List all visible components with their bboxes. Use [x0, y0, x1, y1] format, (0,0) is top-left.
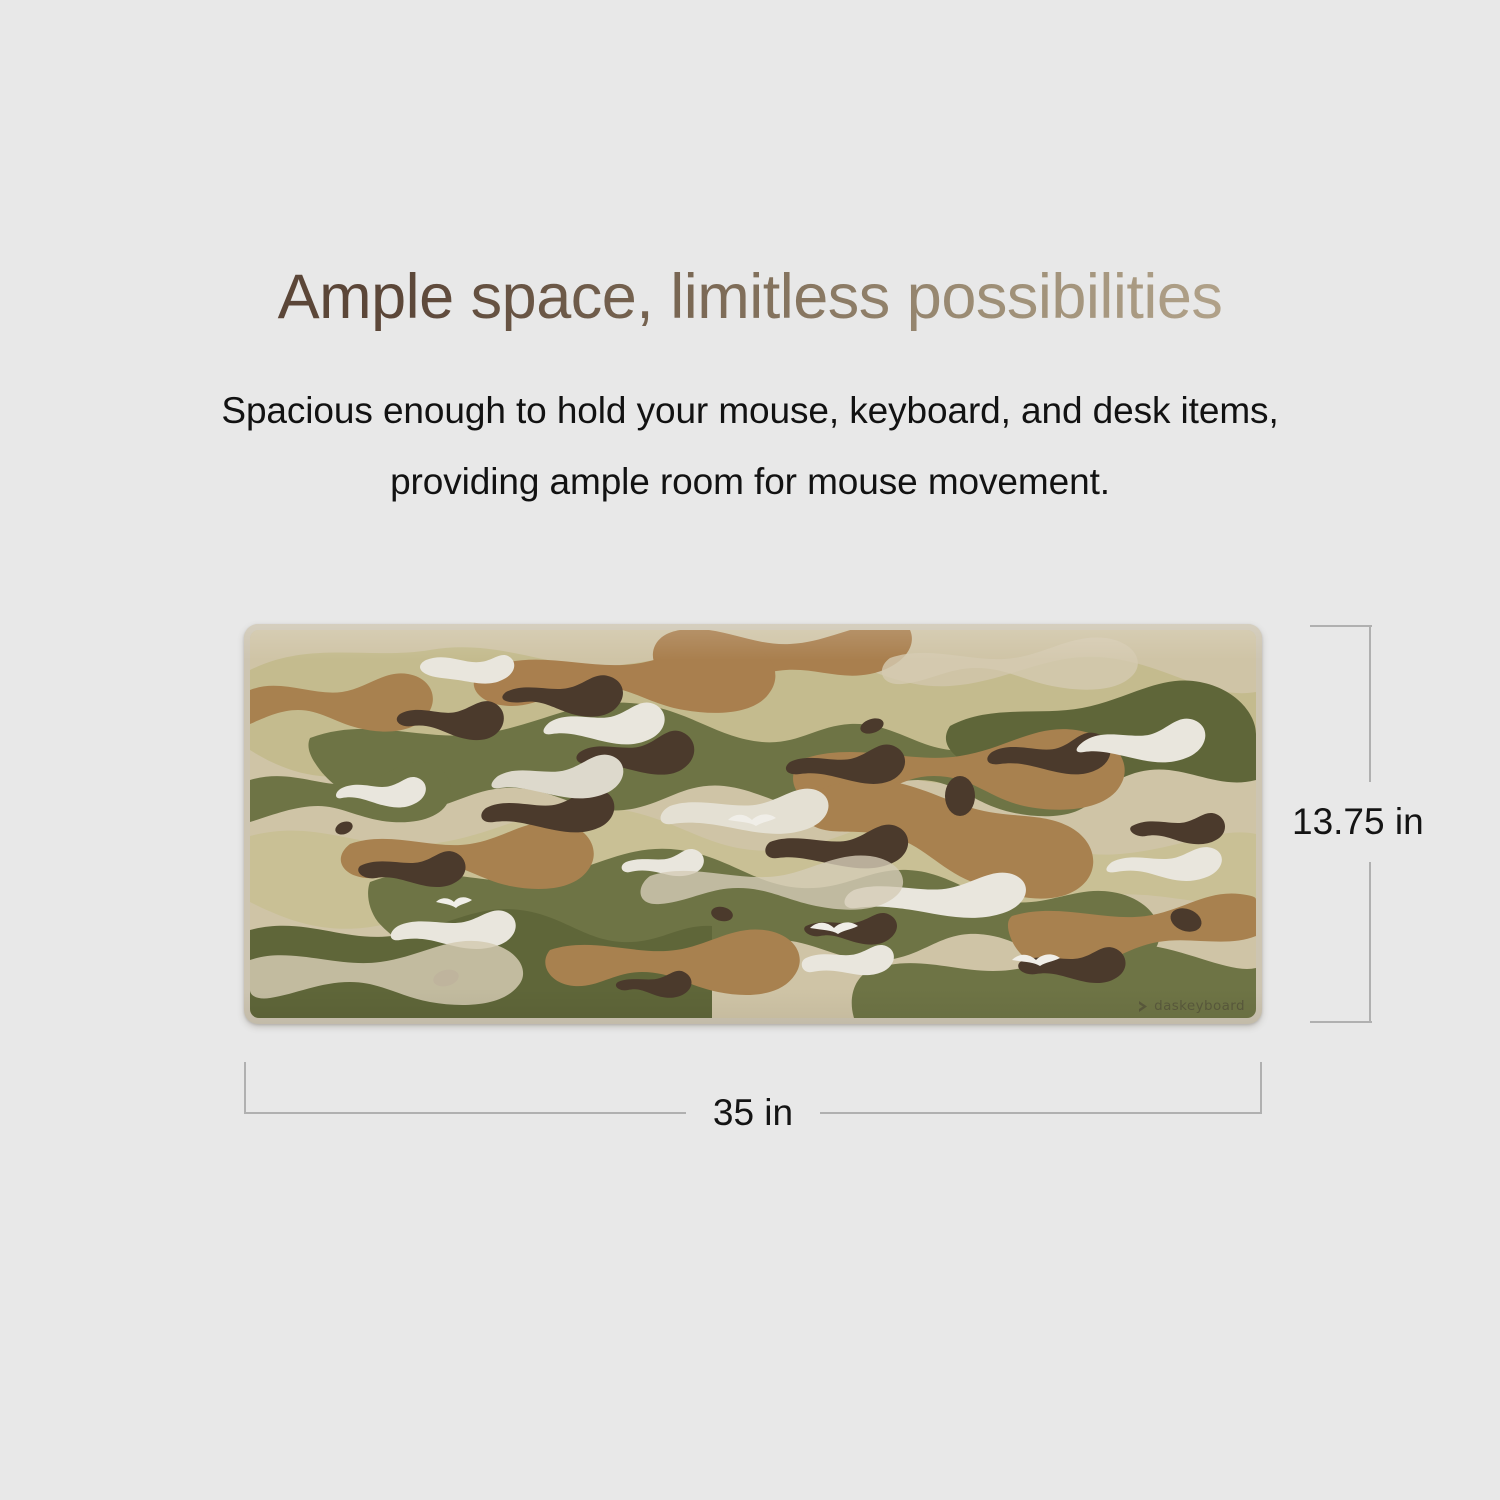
- height-dimension-label: 13.75 in: [1292, 782, 1492, 862]
- subheading-line-1: Spacious enough to hold your mouse, keyb…: [0, 375, 1500, 446]
- height-guide-tick-top: [1310, 625, 1372, 627]
- desk-mat: daskeyboard: [244, 624, 1262, 1024]
- width-guide-tick-left: [244, 1062, 246, 1114]
- page-root: Ample space, limitless possibilities Spa…: [0, 0, 1500, 1500]
- height-guide-line-upper: [1369, 625, 1371, 782]
- width-dimension-label: 35 in: [686, 1083, 820, 1143]
- page-title: Ample space, limitless possibilities: [0, 262, 1500, 333]
- height-guide-tick-bottom: [1310, 1021, 1372, 1023]
- headline-block: Ample space, limitless possibilities: [0, 262, 1500, 333]
- subheading-line-2: providing ample room for mouse movement.: [0, 446, 1500, 517]
- width-guide-line-right: [820, 1112, 1262, 1114]
- desk-mat-edge: daskeyboard: [244, 624, 1262, 1024]
- width-guide-line-left: [244, 1112, 686, 1114]
- height-guide-line-lower: [1369, 862, 1371, 1023]
- subheading: Spacious enough to hold your mouse, keyb…: [0, 375, 1500, 517]
- camouflage-pattern: [250, 630, 1256, 1018]
- width-guide-tick-right: [1260, 1062, 1262, 1114]
